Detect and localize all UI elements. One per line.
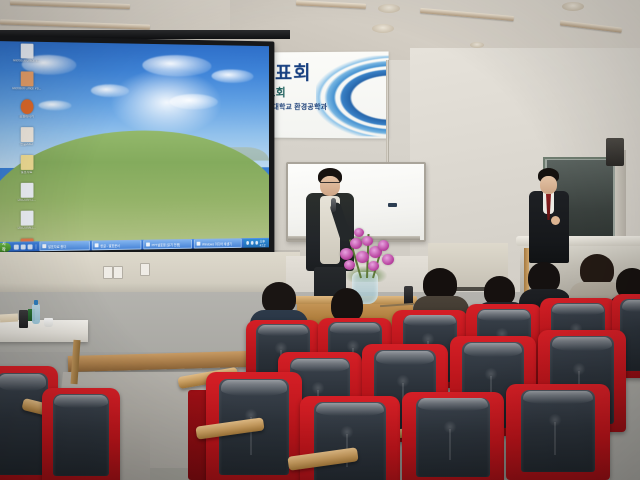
- seat-sheen: [622, 300, 640, 312]
- orchid-bloom: [378, 240, 389, 251]
- taskbar-window-label: Windows 미디어 재생기: [202, 241, 232, 246]
- host-face: [540, 176, 557, 194]
- orchid-bloom: [350, 238, 362, 249]
- taskbar-window-label: PPT발표용 [읽기 전용]: [152, 242, 180, 247]
- document-icon: [20, 43, 33, 58]
- ceiling-diffuser: [378, 4, 400, 13]
- desktop-icon[interactable]: Microsoft Office Po...: [3, 71, 50, 98]
- start-button[interactable]: 시작: [0, 242, 11, 251]
- seat-sheen: [376, 351, 434, 365]
- glasses-icon: [320, 182, 340, 186]
- desktop-icon[interactable]: DSC00981...: [3, 210, 50, 237]
- media-player-icon: [197, 242, 201, 246]
- taskbar-window-label: 한글 - 발표문서: [100, 243, 120, 248]
- host-hand: [551, 216, 560, 225]
- presenter-face: [320, 176, 340, 196]
- seat-sheen: [523, 391, 594, 404]
- image-icon: [20, 183, 33, 198]
- hangul-document-icon: [20, 127, 33, 142]
- orchid-bloom: [362, 236, 373, 246]
- media-icon[interactable]: [28, 244, 33, 249]
- papers: [0, 314, 18, 323]
- seat-sheen: [291, 359, 348, 372]
- seat-emblem: [554, 422, 556, 455]
- auditorium-seat[interactable]: [300, 396, 400, 480]
- orchid-bloom: [368, 261, 379, 271]
- orchid-bloom: [382, 254, 394, 265]
- quick-launch-bar[interactable]: [14, 244, 37, 249]
- desktop-icon-label: DSC00981...: [4, 226, 49, 230]
- seat-sheen: [552, 304, 604, 315]
- taskbar-window-button[interactable]: Windows 미디어 재생기: [194, 238, 242, 248]
- seat-sheen: [330, 323, 380, 333]
- input-method-icon[interactable]: [255, 241, 258, 245]
- whiteboard-marker: [388, 203, 397, 207]
- desktop-icon[interactable]: 곰플레이어: [3, 99, 50, 126]
- paper-cup: [44, 318, 53, 327]
- projected-desktop: Microsoft Office E... Microsoft Office P…: [0, 41, 269, 252]
- wall-outlet: [113, 266, 123, 279]
- presentation-icon: [146, 243, 150, 247]
- desktop-icon-label: Microsoft Office E...: [4, 59, 49, 63]
- taskbar-window-button[interactable]: 한글 - 발표문서: [92, 240, 142, 251]
- auditorium-seat[interactable]: [402, 392, 504, 480]
- desktop-icon[interactable]: 발표자료: [3, 155, 50, 182]
- orchid-bloom: [344, 260, 355, 270]
- auditorium-seat[interactable]: [506, 384, 610, 480]
- desktop-icon-label: DSC00971...: [4, 199, 49, 203]
- ceiling-diffuser: [372, 24, 394, 33]
- desktop-icon[interactable]: DSC00971...: [3, 183, 50, 210]
- seat-emblem: [449, 429, 451, 460]
- folder-icon: [20, 155, 33, 170]
- wall-speaker: [606, 138, 624, 166]
- auditorium-seat[interactable]: [42, 388, 120, 480]
- ceiling-diffuser: [562, 2, 584, 11]
- desktop-icon[interactable]: 한글2002: [3, 127, 50, 154]
- hangul-document-icon: [95, 243, 99, 247]
- desktop-icon-list: Microsoft Office E... Microsoft Office P…: [3, 43, 50, 252]
- show-desktop-icon[interactable]: [14, 244, 19, 249]
- seat-sheen: [54, 395, 107, 408]
- seat-sheen: [478, 310, 530, 321]
- orchid-bloom: [354, 228, 364, 237]
- wall-outlet: [103, 266, 113, 279]
- orchid-bloom: [340, 248, 353, 260]
- beverage-can: [19, 310, 28, 328]
- seat-sheen: [404, 315, 456, 326]
- photo-scene: 발표회 발표회 : 대구대학교 환경공학과 Microsoft Office E…: [0, 0, 640, 480]
- system-tray[interactable]: 오후 4:12: [243, 238, 269, 247]
- desktop-icon-label: 한글2002: [4, 143, 49, 147]
- seat-sheen: [464, 343, 522, 357]
- desktop-icon-label: 발표자료: [4, 171, 49, 175]
- folder-icon: [42, 244, 46, 248]
- taskbar-window-label: 발표자료 폴더: [48, 243, 66, 248]
- desktop-icon-label: Microsoft Office Po...: [4, 87, 49, 91]
- seat-sheen: [316, 403, 384, 416]
- seat-sheen: [258, 325, 308, 335]
- banner-swoosh-graphic: [316, 55, 389, 136]
- microphone-icon: [331, 198, 336, 212]
- seat-sheen: [418, 398, 487, 411]
- seat-sheen: [221, 380, 286, 396]
- media-player-icon: [20, 99, 33, 114]
- taskbar-clock[interactable]: 오후 4:12: [260, 238, 269, 247]
- network-icon[interactable]: [251, 241, 254, 245]
- presentation-icon: [20, 71, 33, 86]
- desktop-icon-label: 곰플레이어: [4, 115, 49, 119]
- browser-icon[interactable]: [21, 244, 26, 249]
- desktop-icon[interactable]: Microsoft Office E...: [3, 43, 50, 71]
- volume-icon[interactable]: [246, 241, 249, 245]
- image-icon: [20, 211, 33, 226]
- taskbar-window-button[interactable]: PPT발표용 [읽기 전용]: [143, 239, 192, 249]
- seat-sheen: [552, 337, 612, 351]
- seat-sheen: [0, 374, 46, 391]
- audience-head: [331, 288, 363, 322]
- taskbar-window-button[interactable]: 발표자료 폴더: [39, 241, 89, 252]
- orchid-bloom: [356, 251, 369, 263]
- wallpaper-cloud: [169, 93, 217, 109]
- water-bottle: [32, 304, 40, 324]
- projection-screen: Microsoft Office E... Microsoft Office P…: [0, 36, 274, 268]
- wall-outlet: [140, 263, 150, 276]
